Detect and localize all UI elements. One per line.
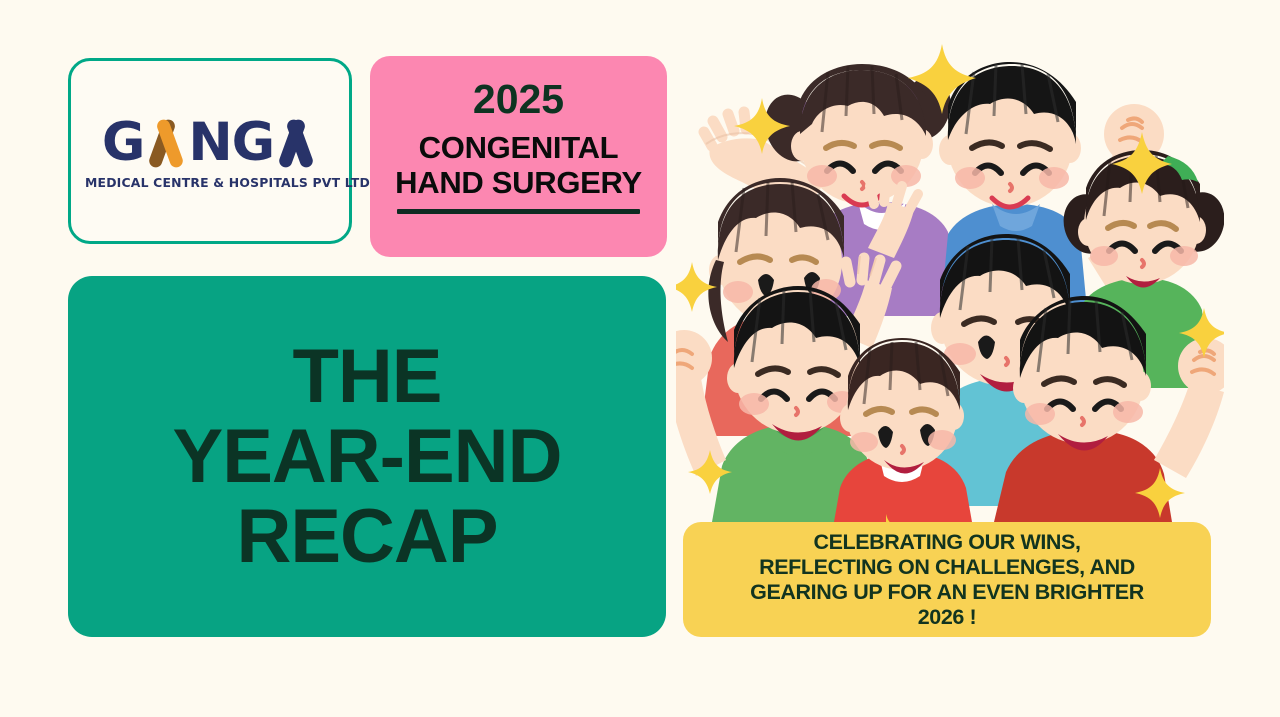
event-title: CONGENITAL HAND SURGERY — [395, 130, 642, 200]
event-title-line-2: HAND SURGERY — [395, 165, 642, 200]
recap-line-2: YEAR-END — [173, 417, 562, 497]
recap-heading: THE YEAR-END RECAP — [173, 337, 562, 577]
logo-letter-g: G — [102, 117, 145, 169]
caption-line-4: 2026 ! — [750, 605, 1144, 630]
ganga-logo-card: G NG MEDICAL CENTRE & HOSPITALS PVT LTD — [68, 58, 352, 244]
logo-tagline: MEDICAL CENTRE & HOSPITALS PVT LTD — [85, 175, 335, 190]
recap-line-3: RECAP — [173, 497, 562, 577]
cheering-children-illustration — [676, 36, 1224, 522]
caption-line-1: CELEBRATING OUR WINS, — [750, 530, 1144, 555]
recap-line-1: THE — [173, 337, 562, 417]
year-end-recap-box: THE YEAR-END RECAP — [68, 276, 666, 637]
caption-line-2: REFLECTING ON CHALLENGES, AND — [750, 555, 1144, 580]
logo-letter-a-orange-icon — [144, 117, 188, 169]
logo-lockup: G NG MEDICAL CENTRE & HOSPITALS PVT LTD — [85, 113, 335, 190]
logo-letters-ng: NG — [188, 117, 274, 169]
ganga-wordmark: G NG — [85, 113, 335, 169]
event-title-card: 2025 CONGENITAL HAND SURGERY — [370, 56, 667, 257]
event-title-line-1: CONGENITAL — [395, 130, 642, 165]
logo-letter-a-navy-icon — [274, 117, 318, 169]
caption-text: CELEBRATING OUR WINS, REFLECTING ON CHAL… — [740, 530, 1154, 630]
caption-box: CELEBRATING OUR WINS, REFLECTING ON CHAL… — [683, 522, 1211, 637]
caption-line-3: GEARING UP FOR AN EVEN BRIGHTER — [750, 580, 1144, 605]
title-underline-rule — [397, 209, 640, 214]
slide-canvas: G NG MEDICAL CENTRE & HOSPITALS PVT LTD … — [0, 0, 1280, 717]
event-year: 2025 — [473, 76, 564, 122]
